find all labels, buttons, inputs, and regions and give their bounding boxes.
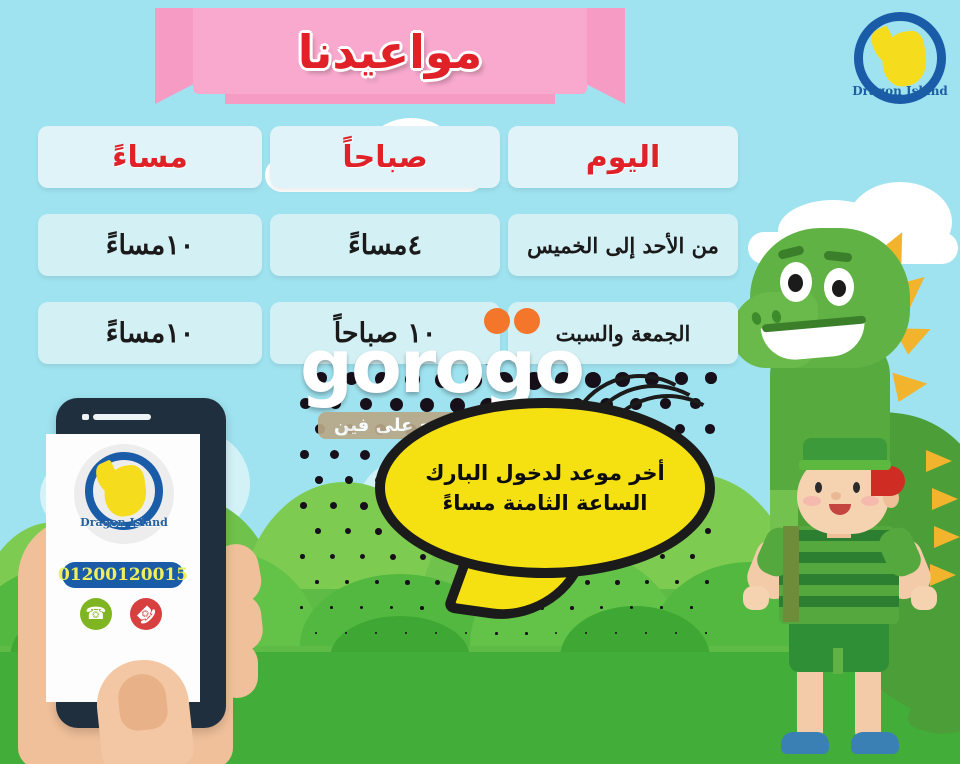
call-accept-button[interactable]: ☎ — [80, 598, 112, 630]
dragon-pupil-left — [788, 274, 803, 292]
row0-day-value: من الأحد إلى الخميس — [527, 233, 719, 258]
row1-morning: ١٠ صباحاً — [270, 302, 500, 364]
dragon-island-logo: Dragon Island — [74, 444, 174, 544]
boy-nose — [831, 492, 841, 500]
boy-shoe-right — [851, 732, 899, 754]
header-evening-label: مساءً — [112, 140, 188, 175]
boy-shorts-gap — [833, 648, 843, 674]
phone-number[interactable]: 01200120015 — [62, 562, 184, 588]
row1-evening-value: ١٠مساءً — [106, 318, 195, 349]
phone-speaker — [93, 414, 151, 420]
row0-day: من الأحد إلى الخميس — [508, 214, 738, 276]
phone-hangup-icon: ☎ — [131, 599, 160, 628]
table-header-row: مساءً صباحاً اليوم — [38, 126, 738, 188]
boy-eye-right — [853, 482, 860, 493]
phone-in-hand: Dragon Island 01200120015 ☎ ☎ — [38, 398, 268, 764]
boy-cheek-right — [861, 496, 879, 506]
boy-backpack-strap — [783, 526, 799, 622]
notice-line-2: الساعة الثامنة مساءً — [410, 488, 680, 518]
page-title: مواعيدنا — [193, 10, 587, 94]
row0-evening: ١٠مساءً — [38, 214, 262, 276]
boy-hand-left — [743, 586, 769, 610]
row1-day-value: الجمعة والسبت — [556, 321, 691, 346]
title-ribbon: مواعيدنا — [155, 8, 625, 118]
row0-morning-value: ٤مساءً — [348, 230, 422, 261]
boy-cheek-left — [803, 496, 821, 506]
phone-screen: Dragon Island 01200120015 ☎ ☎ — [46, 434, 200, 702]
boy-hand-right — [911, 586, 937, 610]
header-day: اليوم — [508, 126, 738, 188]
poster-canvas: مواعيدنا مساءً صباحاً اليوم ١٠مساءً ٤مسا… — [0, 0, 960, 764]
row1-day: الجمعة والسبت — [508, 302, 738, 364]
boy-cap-brim — [799, 460, 891, 470]
phone-camera-icon — [82, 414, 89, 420]
header-morning: صباحاً — [270, 126, 500, 188]
dragon-pupil-right — [832, 280, 846, 297]
schedule-table: مساءً صباحاً اليوم ١٠مساءً ٤مساءً من الأ… — [38, 126, 738, 390]
thumb-nail — [116, 672, 170, 733]
row1-morning-value: ١٠ صباحاً — [334, 318, 437, 349]
header-day-label: اليوم — [586, 140, 661, 175]
row0-evening-value: ١٠مساءً — [106, 230, 195, 261]
brand-logo: Dragon Island — [848, 10, 952, 114]
table-row: ١٠مساءً ٤مساءً من الأحد إلى الخميس — [38, 214, 738, 276]
bubble-body: أخر موعد لدخول البارك الساعة الثامنة مسا… — [375, 398, 715, 578]
boy-hair — [871, 466, 905, 496]
brand-logo-label: Dragon Island — [848, 84, 952, 98]
row1-evening: ١٠مساءً — [38, 302, 262, 364]
table-row: ١٠مساءً ١٠ صباحاً الجمعة والسبت — [38, 302, 738, 364]
boy-shoe-left — [781, 732, 829, 754]
logo-label: Dragon Island — [74, 516, 174, 529]
header-morning-label: صباحاً — [342, 140, 427, 175]
phone-call-icon: ☎ — [85, 604, 106, 624]
notice-line-1: أخر موعد لدخول البارك — [410, 458, 680, 488]
boy-eye-left — [815, 482, 822, 493]
notice-bubble: أخر موعد لدخول البارك الساعة الثامنة مسا… — [375, 398, 735, 628]
row0-morning: ٤مساءً — [270, 214, 500, 276]
dragon-spike — [892, 366, 930, 402]
header-evening: مساءً — [38, 126, 262, 188]
call-decline-button[interactable]: ☎ — [130, 598, 162, 630]
boy-character — [745, 440, 945, 764]
